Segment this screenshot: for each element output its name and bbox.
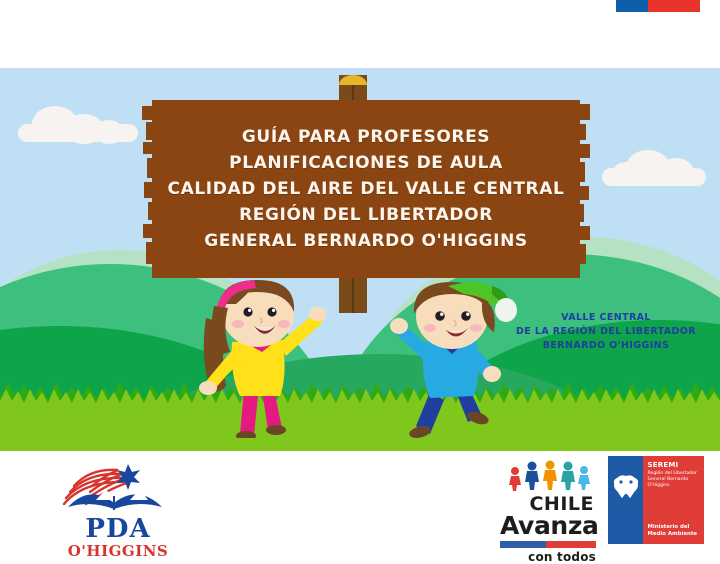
sign-line-2: PLANIFICACIONES DE AULA bbox=[229, 151, 503, 175]
seremi-government-logo: SEREMI Región del Libertador General Ber… bbox=[608, 456, 704, 544]
ca-bar-blue bbox=[500, 541, 546, 548]
chile-avanza-flag-bars bbox=[500, 541, 596, 548]
pda-logo-name: PDA bbox=[56, 516, 180, 542]
seremi-ministry: Ministerio del Medio Ambiente bbox=[648, 524, 698, 538]
chile-coat-of-arms-icon bbox=[609, 470, 643, 500]
chilean-flag-bar bbox=[616, 0, 700, 12]
sign-title-block: GUÍA PARA PROFESORES PLANIFICACIONES DE … bbox=[152, 100, 580, 278]
chile-avanza-line2: Avanza bbox=[500, 513, 596, 538]
sign-line-5: GENERAL BERNARDO O'HIGGINS bbox=[204, 229, 528, 253]
seremi-title: SEREMI bbox=[648, 462, 700, 469]
girl-character bbox=[196, 278, 326, 438]
grass-strip bbox=[0, 411, 720, 451]
cloud-right bbox=[602, 146, 706, 186]
boy-character bbox=[386, 280, 522, 442]
chile-avanza-figures-icon bbox=[500, 459, 596, 491]
caption-line-3: BERNARDO O'HIGGINS bbox=[516, 339, 696, 353]
ca-bar-red bbox=[546, 541, 596, 548]
seremi-subtitle: Región del Libertador General Bernardo O… bbox=[648, 471, 700, 490]
sign-board: GUÍA PARA PROFESORES PLANIFICACIONES DE … bbox=[152, 100, 580, 278]
flag-bar-blue bbox=[616, 0, 648, 12]
chile-avanza-logo: CHILE Avanza con todos bbox=[500, 459, 596, 555]
pda-emblem-icon bbox=[56, 460, 180, 512]
cloud-left bbox=[18, 100, 138, 142]
sign-line-1: GUÍA PARA PROFESORES bbox=[242, 125, 490, 149]
sign-line-3: CALIDAD DEL AIRE DEL VALLE CENTRAL bbox=[168, 177, 565, 201]
valle-central-caption: VALLE CENTRAL DE LA REGIÓN DEL LIBERTADO… bbox=[516, 311, 696, 352]
caption-line-1: VALLE CENTRAL bbox=[516, 311, 696, 325]
caption-line-2: DE LA REGIÓN DEL LIBERTADOR bbox=[516, 325, 696, 339]
pda-ohiggins-logo: PDA O'HIGGINS bbox=[56, 460, 180, 552]
flag-bar-red bbox=[648, 0, 700, 12]
seremi-crest-panel bbox=[608, 456, 643, 544]
footer-logos: PDA O'HIGGINS CHILE Avanza con todo bbox=[0, 451, 720, 560]
chile-avanza-line3: con todos bbox=[500, 550, 596, 564]
pda-logo-subtitle: O'HIGGINS bbox=[56, 543, 180, 560]
sign-line-4: REGIÓN DEL LIBERTADOR bbox=[239, 203, 493, 227]
grass-blades-front bbox=[0, 389, 720, 411]
cover-illustration: GUÍA PARA PROFESORES PLANIFICACIONES DE … bbox=[0, 68, 720, 451]
seremi-text-panel: SEREMI Región del Libertador General Ber… bbox=[643, 456, 704, 544]
